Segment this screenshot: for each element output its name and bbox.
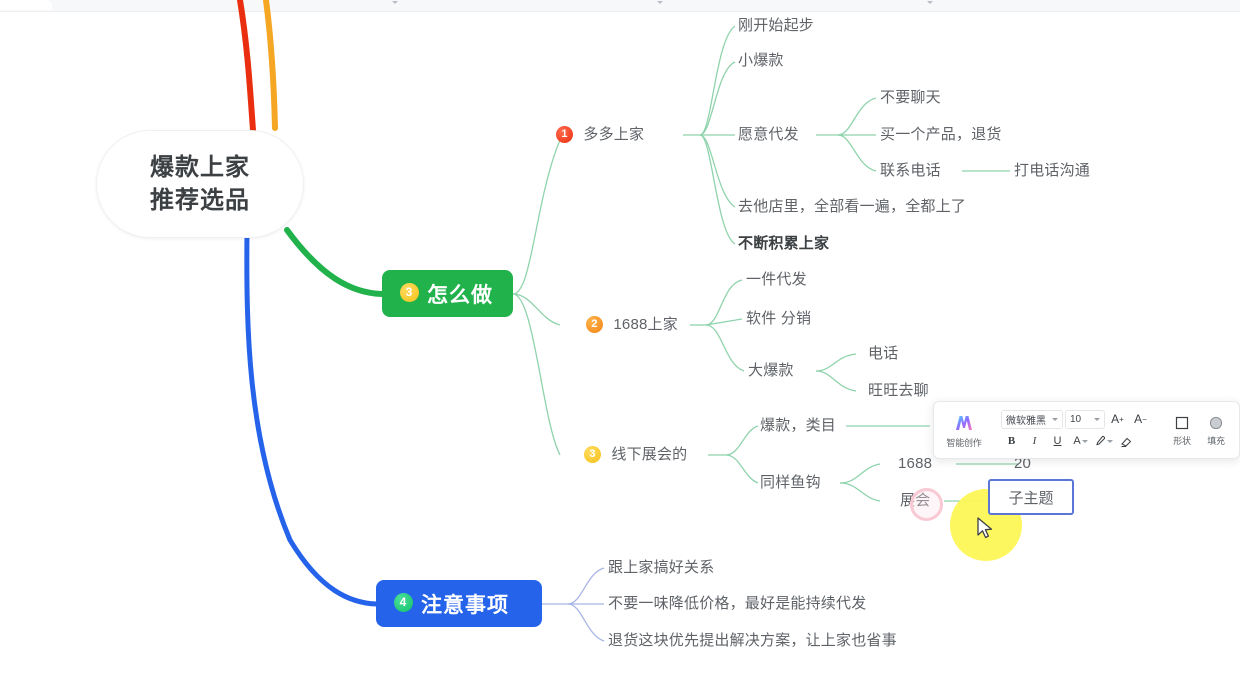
topic-label-offline-expo: 线下展会的 (611, 446, 687, 463)
italic-button[interactable]: I (1024, 432, 1045, 451)
decrease-font-size-label: A (1134, 412, 1142, 426)
clear-format-icon (1120, 435, 1133, 448)
topic-node-offline-expo[interactable]: 3 线下展会的 (584, 446, 687, 464)
fill-button[interactable]: 填充 (1199, 406, 1233, 454)
topic-badge-1: 1 (556, 126, 573, 143)
root-node-line1: 爆款上家 (150, 151, 250, 184)
node-phone[interactable]: 电话 (868, 345, 898, 363)
connector-topic3-child-1 (726, 426, 758, 455)
text-color-label: A (1073, 435, 1080, 447)
toolbar-group-ai: 智能创作 (934, 406, 994, 454)
font-family-select[interactable]: 微软雅黑 (1001, 410, 1063, 429)
underline-button[interactable]: U (1047, 432, 1068, 451)
format-toolbar[interactable]: 智能创作 微软雅黑 10 A+ (933, 401, 1240, 459)
ai-sparkle-icon (953, 412, 975, 434)
fill-label: 填充 (1207, 434, 1225, 447)
topic-node-1688[interactable]: 2 1688上家 (586, 316, 678, 334)
border-button[interactable]: 边框 (1233, 406, 1240, 454)
square-icon (1173, 414, 1191, 432)
node-1688-number[interactable]: 1688 (898, 455, 932, 473)
node-one-piece-dropship[interactable]: 一件代发 (746, 271, 807, 289)
connector-bigseller-child-2 (816, 371, 856, 391)
connector-bigseller-child-1 (816, 354, 856, 371)
node-big-hit[interactable]: 大爆款 (748, 362, 794, 380)
root-node-line2: 推荐选品 (150, 184, 250, 217)
chevron-down-icon-size (1094, 418, 1100, 421)
shape-button[interactable]: 形状 (1165, 406, 1199, 454)
connector-branch-how-to (287, 230, 382, 294)
branch-node-notes[interactable]: 4 注意事项 (376, 580, 542, 627)
node-contact-phone[interactable]: 联系电话 (880, 162, 941, 180)
node-software-distribution[interactable]: 软件 分销 (746, 310, 811, 328)
clear-format-button[interactable] (1116, 432, 1137, 451)
shape-label: 形状 (1173, 434, 1191, 447)
branch-node-how-to[interactable]: 3 怎么做 (382, 270, 513, 317)
node-just-started[interactable]: 刚开始起步 (738, 17, 814, 35)
connector-topic1-child-5 (700, 135, 735, 244)
filled-circle-icon (1207, 414, 1225, 432)
connector-topic1-child-1 (700, 26, 735, 135)
mindmap-app: 爆款上家 推荐选品 3 怎么做 4 注意事项 1 多多上家 刚开始起步 小爆款 … (0, 0, 1240, 695)
decrease-font-size-button[interactable]: A− (1130, 410, 1151, 429)
increase-font-size-button[interactable]: A+ (1107, 410, 1128, 429)
branch-label-notes: 注意事项 (421, 589, 509, 619)
topic-label-1688: 1688上家 (613, 316, 678, 333)
highlight-ring (910, 488, 943, 521)
mindmap-connectors (0, 0, 1240, 695)
connector-topic2-child-1 (706, 280, 742, 325)
topic-label-duoduo: 多多上家 (583, 126, 644, 143)
chevron-down-icon-font (1052, 418, 1058, 421)
ai-create-button[interactable]: 智能创作 (941, 406, 987, 454)
branch-label-how-to: 怎么做 (427, 279, 493, 309)
connector-topic2-child-3 (706, 325, 744, 371)
highlighter-icon (1094, 435, 1106, 447)
topic-badge-2: 2 (586, 316, 603, 333)
node-no-chat[interactable]: 不要聊天 (880, 89, 941, 107)
connector-branch-1 (240, 0, 253, 130)
node-willing-dropship[interactable]: 愿意代发 (738, 126, 799, 144)
node-dont-lower-price[interactable]: 不要一味降低价格，最好是能持续代发 (608, 595, 866, 613)
node-buy-one-return[interactable]: 买一个产品，退货 (880, 126, 1002, 144)
font-family-value: 微软雅黑 (1006, 412, 1046, 427)
node-call-to-talk[interactable]: 打电话沟通 (1014, 162, 1090, 180)
connector-hook-child-1 (840, 464, 880, 483)
font-size-value: 10 (1070, 414, 1081, 425)
connector-branch-2 (266, 0, 275, 128)
node-good-relations[interactable]: 跟上家搞好关系 (608, 559, 714, 577)
chevron-down-icon-text-color (1082, 440, 1088, 443)
node-small-hit[interactable]: 小爆款 (738, 52, 784, 70)
connector-notes-child-3 (568, 604, 604, 641)
connector-notes-child-1 (568, 568, 604, 604)
topic-badge-3: 3 (584, 446, 601, 463)
font-size-select[interactable]: 10 (1065, 410, 1105, 429)
node-wangwang-chat[interactable]: 旺旺去聊 (868, 382, 929, 400)
node-hot-category[interactable]: 爆款，类目 (760, 417, 836, 435)
bold-button[interactable]: B (1001, 432, 1022, 451)
toolbar-row-font: 微软雅黑 10 A+ A− (1001, 410, 1151, 429)
highlight-button[interactable] (1093, 432, 1114, 451)
toolbar-row-style: B I U A (1001, 432, 1151, 451)
connector-how-to-topic-3 (513, 294, 560, 455)
ai-create-label: 智能创作 (946, 436, 981, 449)
connector-hook-child-2 (840, 483, 880, 501)
connector-agree-child-1 (838, 98, 876, 135)
selected-subtopic-label: 子主题 (1008, 487, 1053, 508)
connector-how-to-topic-1 (513, 140, 560, 294)
increase-font-size-label: A (1111, 412, 1119, 426)
node-visit-store[interactable]: 去他店里，全部看一遍，全都上了 (738, 198, 966, 216)
branch-badge-3: 3 (400, 283, 419, 302)
mouse-cursor-icon (977, 517, 995, 541)
branch-badge-4: 4 (394, 593, 413, 612)
node-accumulate-sellers[interactable]: 不断积累上家 (738, 235, 829, 253)
toolbar-group-text: 微软雅黑 10 A+ A− B I (994, 406, 1158, 454)
selected-subtopic-node[interactable]: 子主题 (988, 479, 1074, 515)
chevron-down-icon-highlight (1107, 440, 1113, 443)
topic-node-duoduo[interactable]: 1 多多上家 (556, 126, 644, 144)
root-node[interactable]: 爆款上家 推荐选品 (96, 130, 304, 238)
connector-topic3-child-2 (726, 455, 758, 483)
toolbar-group-shape: 形状 填充 边框 (1158, 406, 1240, 454)
text-color-button[interactable]: A (1070, 432, 1091, 451)
node-same-fish-hook[interactable]: 同样鱼钩 (760, 474, 821, 492)
connector-agree-child-3 (838, 135, 876, 171)
node-return-solution[interactable]: 退货这块优先提出解决方案，让上家也省事 (608, 632, 897, 650)
